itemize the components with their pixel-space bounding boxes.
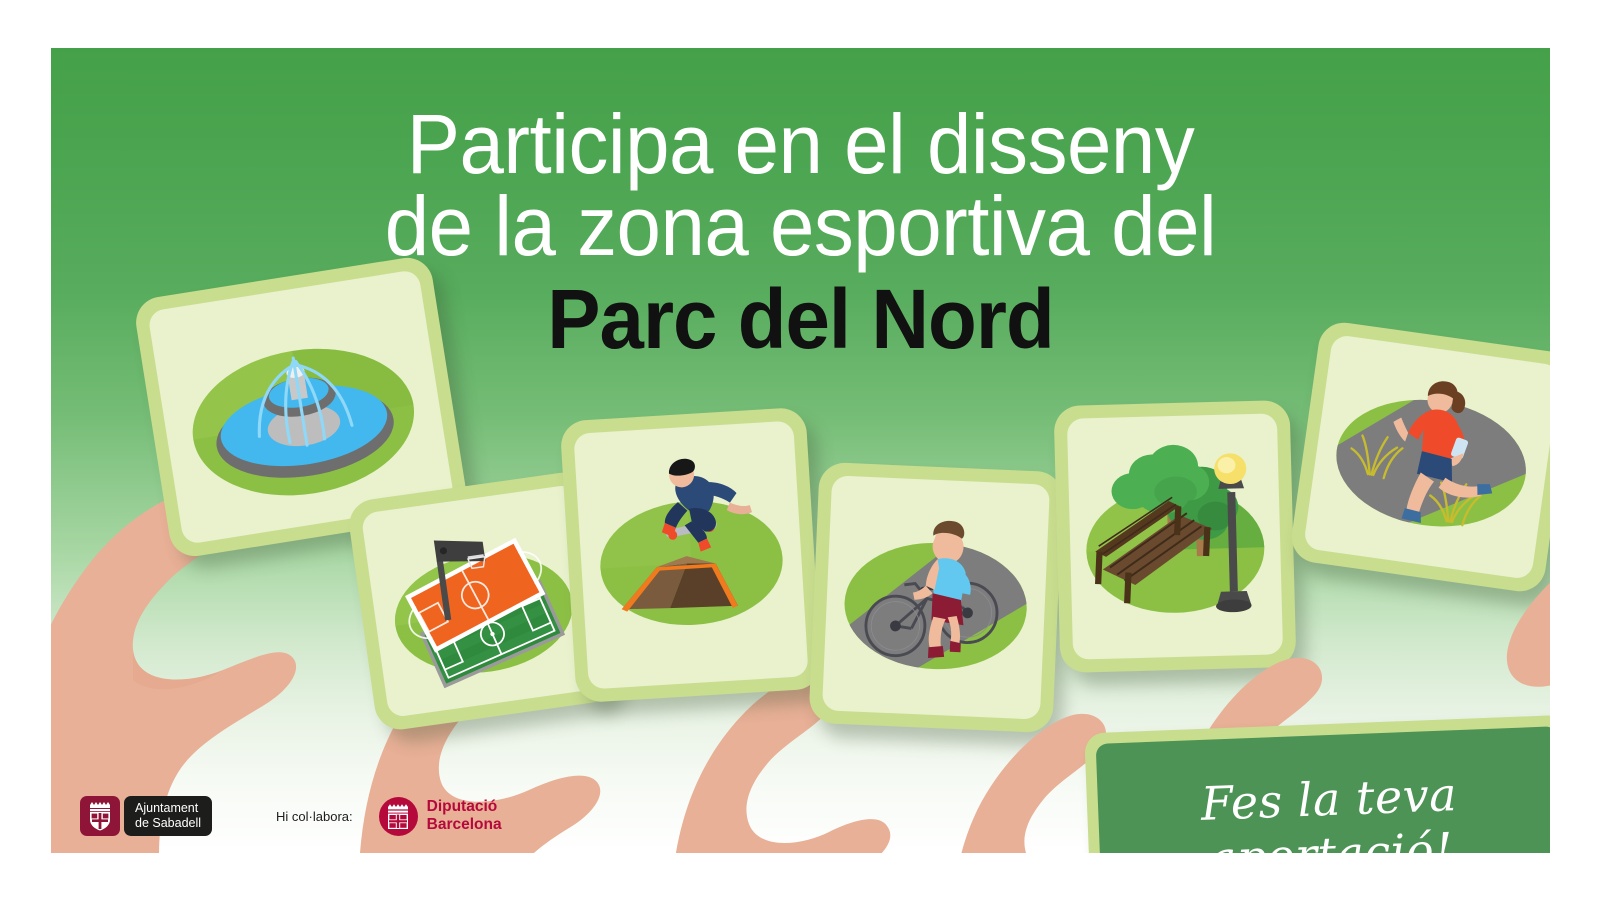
- footer-bar: Ajuntament de Sabadell Hi col·labora:: [0, 853, 1600, 900]
- cta-badge[interactable]: Fes la teva aportació!: [1084, 715, 1550, 853]
- sabadell-crest-glyph: [87, 801, 113, 831]
- cta-text: Fes la teva aportació!: [1200, 767, 1460, 853]
- diputacio-crest-icon: [379, 797, 418, 836]
- poster-canvas: Participa en el disseny de la zona espor…: [0, 0, 1600, 900]
- ajuntament-line-2: de Sabadell: [135, 816, 201, 831]
- card-skate-ramp[interactable]: [560, 407, 823, 703]
- diputacio-name: Diputació Barcelona: [427, 798, 502, 834]
- cta-line-1: Fes la teva: [1200, 767, 1458, 831]
- cta-badge-inner: Fes la teva aportació!: [1096, 726, 1550, 853]
- card-skate-ramp-image: [573, 421, 808, 690]
- skateboarder-icon: [573, 421, 808, 690]
- diputacio-crest-glyph: [386, 803, 410, 830]
- headline-line-1: Participa en el disseny: [88, 103, 1512, 185]
- ajuntament-name-plate: Ajuntament de Sabadell: [124, 796, 212, 836]
- poster-panel: Participa en el disseny de la zona espor…: [51, 48, 1550, 853]
- headline-line-2: de la zona esportiva del: [88, 185, 1512, 267]
- sabadell-crest-icon: [80, 796, 120, 836]
- diputacio-line-1: Diputació: [427, 798, 502, 816]
- logo-row: Ajuntament de Sabadell Hi col·labora:: [80, 796, 502, 836]
- collaborator-group: Hi col·labora:: [276, 809, 353, 824]
- collaborator-label: Hi col·labora:: [276, 809, 353, 824]
- diputacio-line-2: Barcelona: [427, 816, 502, 834]
- ajuntament-sabadell-logo[interactable]: Ajuntament de Sabadell: [80, 796, 212, 836]
- ajuntament-line-1: Ajuntament: [135, 801, 201, 816]
- diputacio-barcelona-logo[interactable]: Diputació Barcelona: [379, 797, 502, 836]
